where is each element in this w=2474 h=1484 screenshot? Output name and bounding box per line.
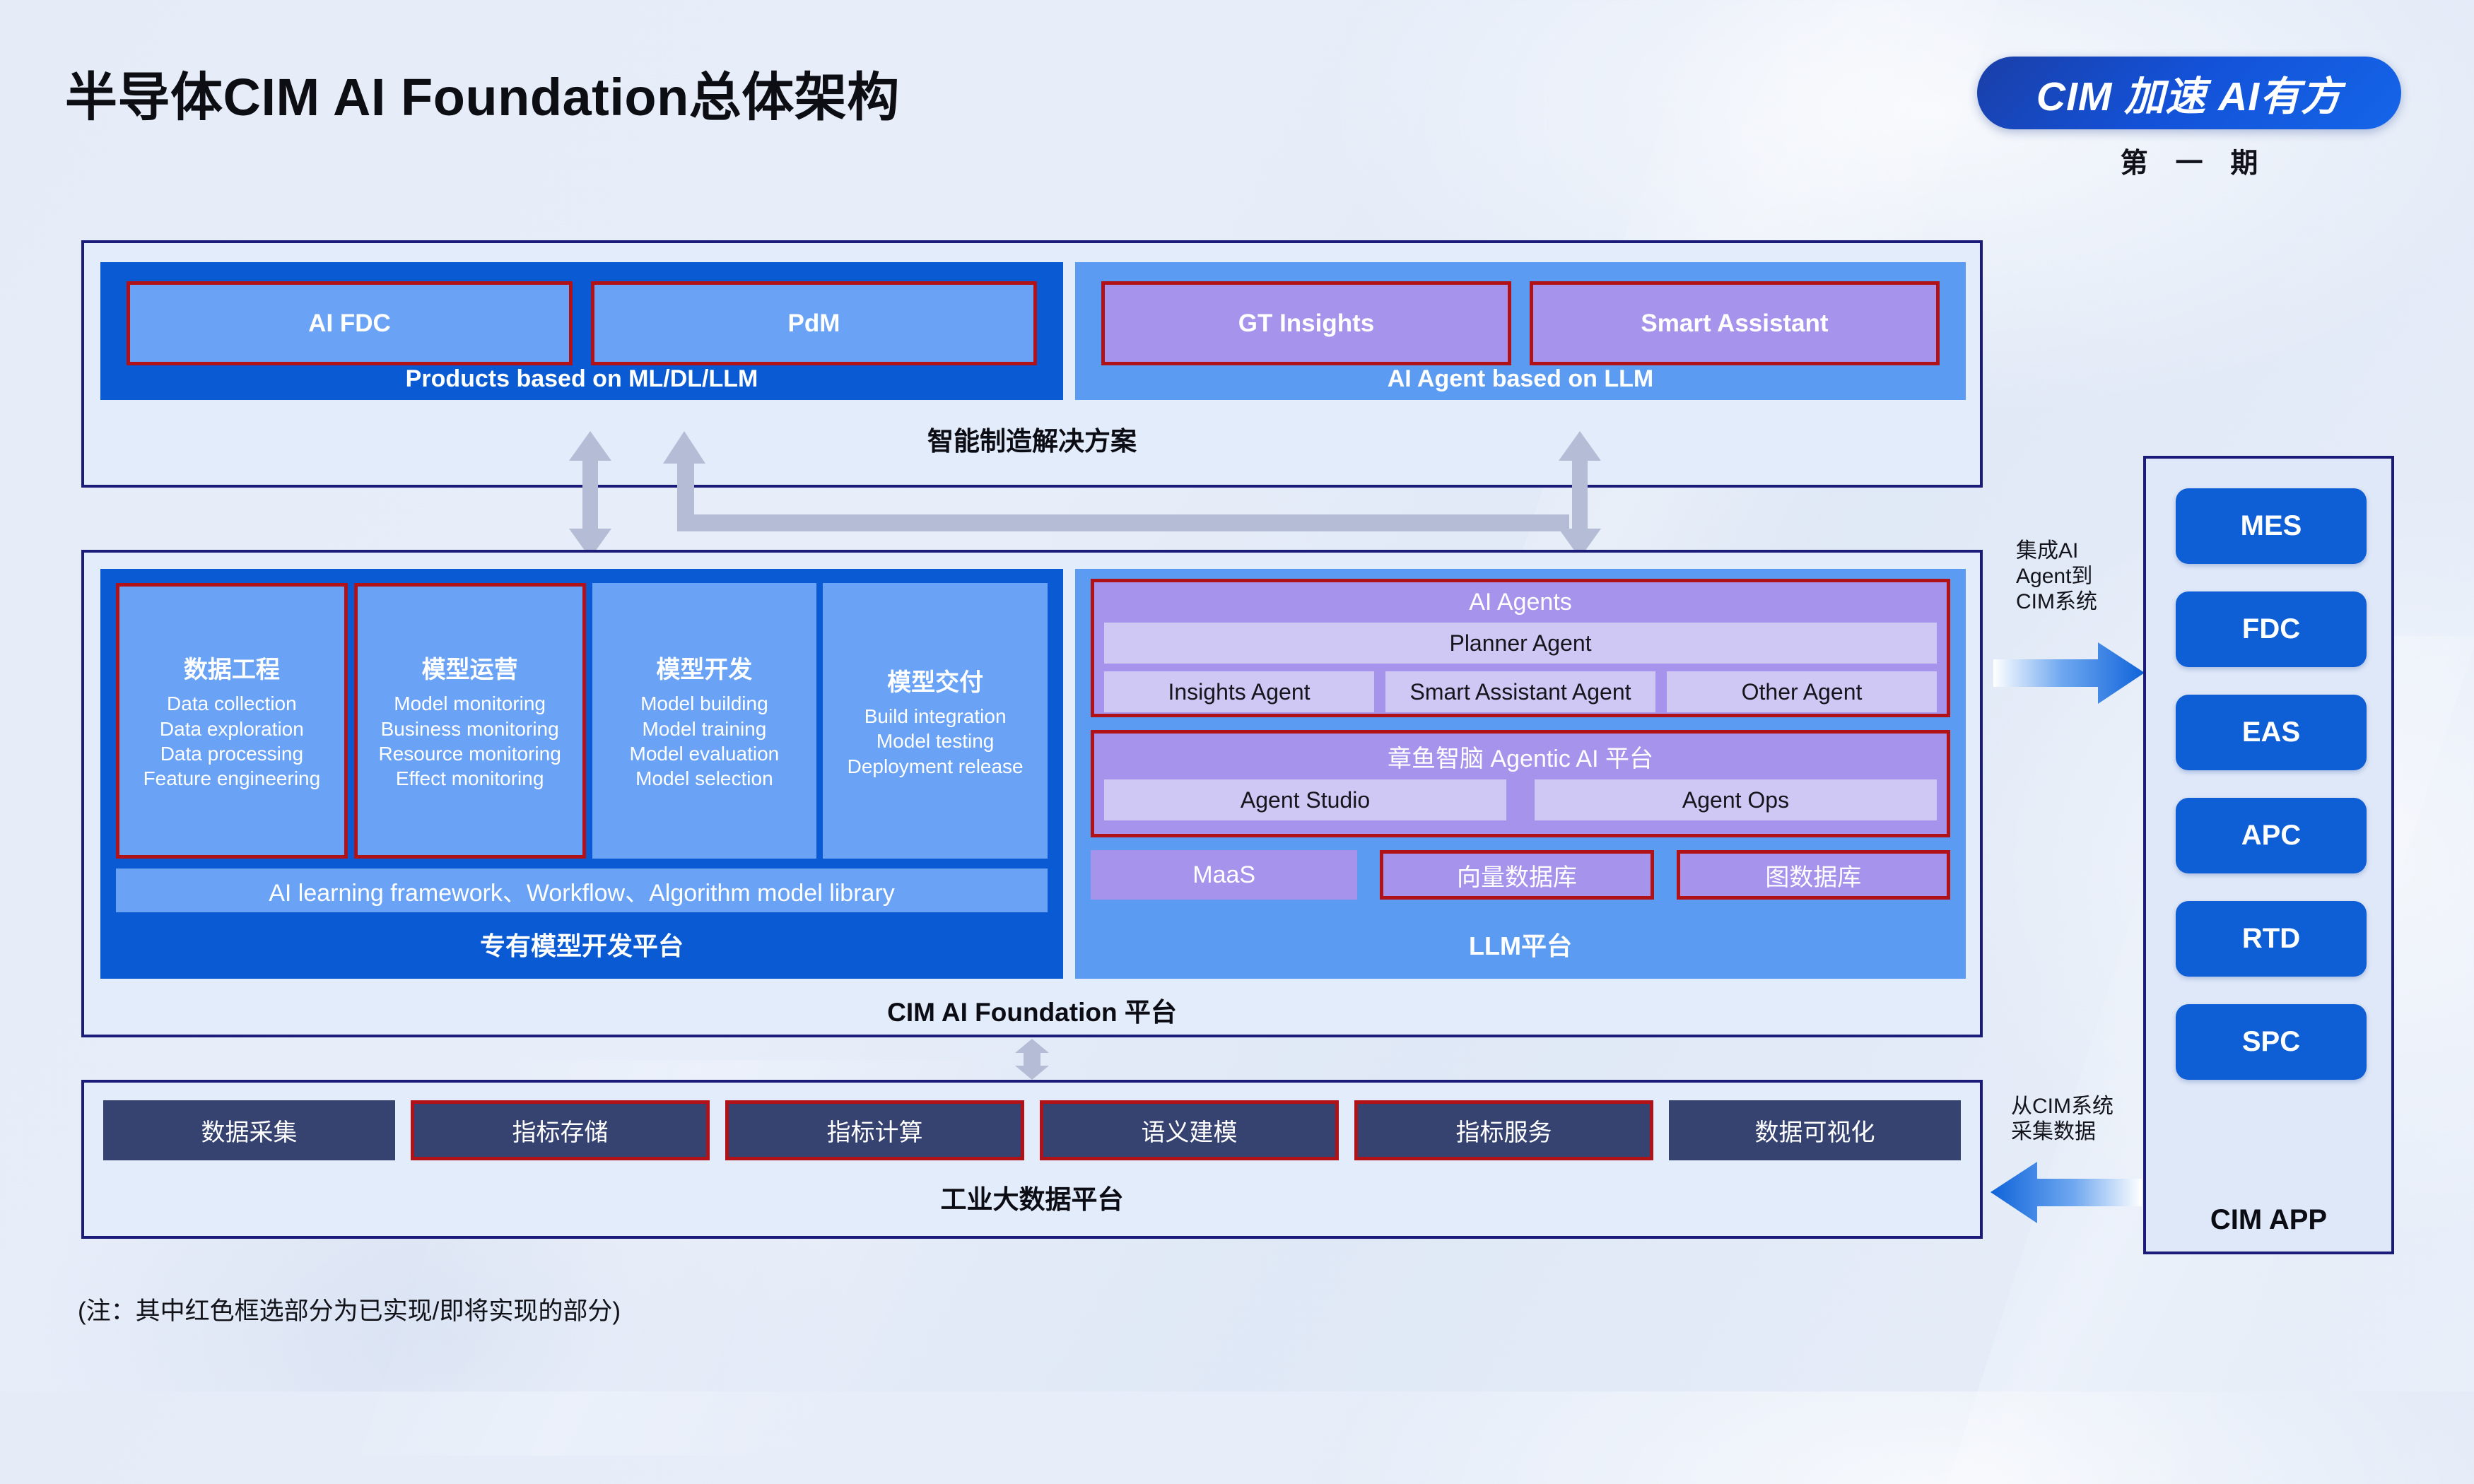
- pillar-item: Data processing: [160, 741, 303, 766]
- campaign-badge: CIM 加速 AI有方: [1977, 57, 2401, 129]
- cim-app-chip-apc[interactable]: APC: [2176, 798, 2367, 873]
- platform-layer: 数据工程 Data collection Data exploration Da…: [81, 550, 1983, 1037]
- agent-trio-row: Insights Agent Smart Assistant Agent Oth…: [1104, 671, 1937, 712]
- agentic-ai-platform-box[interactable]: 章鱼智脑 Agentic AI 平台 Agent Studio Agent Op…: [1091, 730, 1950, 837]
- ai-agent-group-label: AI Agent based on LLM: [1075, 365, 1966, 400]
- page-title: 半导体CIM AI Foundation总体架构: [65, 55, 900, 131]
- products-group-label: Products based on ML/DL/LLM: [100, 365, 1063, 400]
- pillar-title: 模型运营: [422, 650, 518, 685]
- pillar-item: Model testing: [877, 729, 995, 753]
- pillar-item: Model monitoring: [394, 691, 546, 716]
- product-chip-pdm[interactable]: PdM: [591, 281, 1037, 365]
- agentic-module-row: Agent Studio Agent Ops: [1104, 779, 1937, 820]
- llm-platform-label: LLM平台: [1075, 926, 1966, 962]
- pillar-item: Model selection: [635, 766, 773, 791]
- data-chip-metric-storage[interactable]: 指标存储: [411, 1100, 710, 1160]
- integrate-arrow-right-icon: [1993, 640, 2145, 707]
- pillar-item: Deployment release: [848, 754, 1024, 779]
- cim-app-panel: MES FDC EAS APC RTD SPC CIM APP: [2143, 456, 2394, 1254]
- planner-agent-chip[interactable]: Planner Agent: [1104, 623, 1937, 664]
- cim-app-chip-spc[interactable]: SPC: [2176, 1004, 2367, 1080]
- collect-note: 从CIM系统 采集数据: [2011, 1094, 2114, 1145]
- pillar-item: Resource monitoring: [378, 741, 561, 766]
- ai-agents-box[interactable]: AI Agents Planner Agent Insights Agent S…: [1091, 579, 1950, 717]
- campaign-issue-label: 第 一 期: [1977, 141, 2401, 181]
- pillar-item: Effect monitoring: [396, 766, 544, 791]
- pillar-item: Model evaluation: [630, 741, 780, 766]
- pillar-data-engineering[interactable]: 数据工程 Data collection Data exploration Da…: [116, 583, 348, 859]
- ai-agents-title: AI Agents: [1104, 582, 1937, 623]
- maas-chip-graph-db[interactable]: 图数据库: [1677, 850, 1950, 900]
- cim-app-caption: CIM APP: [2146, 1204, 2391, 1236]
- llm-platform: AI Agents Planner Agent Insights Agent S…: [1075, 569, 1966, 979]
- data-chip-row: 数据采集 指标存储 指标计算 语义建模 指标服务 数据可视化: [103, 1100, 1961, 1160]
- agentic-ai-title: 章鱼智脑 Agentic AI 平台: [1104, 734, 1937, 779]
- module-chip-agent-ops[interactable]: Agent Ops: [1535, 779, 1937, 820]
- pillar-model-development[interactable]: 模型开发 Model building Model training Model…: [592, 583, 817, 859]
- pillar-title: 数据工程: [184, 650, 280, 685]
- integrate-note-line3: CIM系统: [2016, 589, 2097, 615]
- pillar-item: Feature engineering: [143, 766, 321, 791]
- pillar-model-operations[interactable]: 模型运营 Model monitoring Business monitorin…: [354, 583, 586, 859]
- agent-chip-smart-assistant-agent[interactable]: Smart Assistant Agent: [1385, 671, 1655, 712]
- private-platform-label: 专有模型开发平台: [100, 926, 1063, 962]
- cim-app-chip-mes[interactable]: MES: [2176, 488, 2367, 564]
- pillar-title: 模型开发: [656, 650, 752, 685]
- collect-note-line1: 从CIM系统: [2011, 1094, 2114, 1119]
- agent-chip-row: GT Insights Smart Assistant: [1075, 262, 1966, 365]
- maas-chip-maas[interactable]: MaaS: [1091, 850, 1357, 900]
- integrate-note-line2: Agent到: [2016, 564, 2097, 589]
- cim-app-list: MES FDC EAS APC RTD SPC: [2176, 488, 2367, 1080]
- data-layer: 数据采集 指标存储 指标计算 语义建模 指标服务 数据可视化 工业大数据平台: [81, 1080, 1983, 1239]
- pillar-item: Model building: [640, 691, 768, 716]
- ai-agent-group: GT Insights Smart Assistant AI Agent bas…: [1075, 262, 1966, 400]
- maas-row: MaaS 向量数据库 图数据库: [1091, 850, 1950, 900]
- data-chip-data-collection[interactable]: 数据采集: [103, 1100, 395, 1160]
- data-chip-metric-computation[interactable]: 指标计算: [725, 1100, 1024, 1160]
- agent-chip-gt-insights[interactable]: GT Insights: [1101, 281, 1511, 365]
- footnote: (注：其中红色框选部分为已实现/即将实现的部分): [78, 1291, 621, 1327]
- campaign-badge-label: CIM 加速 AI有方: [2036, 64, 2342, 122]
- data-layer-caption: 工业大数据平台: [84, 1178, 1980, 1216]
- pillar-title: 模型交付: [887, 663, 983, 697]
- data-chip-semantic-modeling[interactable]: 语义建模: [1040, 1100, 1339, 1160]
- data-chip-data-visualization[interactable]: 数据可视化: [1669, 1100, 1961, 1160]
- platform-data-connector: [1009, 1037, 1055, 1081]
- collect-arrow-left-icon: [1990, 1159, 2142, 1226]
- agent-chip-insights-agent[interactable]: Insights Agent: [1104, 671, 1374, 712]
- data-chip-metric-service[interactable]: 指标服务: [1354, 1100, 1653, 1160]
- integrate-note-line1: 集成AI: [2016, 538, 2097, 564]
- platform-layer-caption: CIM AI Foundation 平台: [84, 991, 1980, 1029]
- agent-chip-smart-assistant[interactable]: Smart Assistant: [1530, 281, 1940, 365]
- pillar-model-delivery[interactable]: 模型交付 Build integration Model testing Dep…: [823, 583, 1048, 859]
- integrate-note: 集成AI Agent到 CIM系统: [2016, 538, 2097, 615]
- solution-platform-connectors: [551, 424, 1612, 565]
- collect-note-line2: 采集数据: [2011, 1119, 2114, 1145]
- products-group: AI FDC PdM Products based on ML/DL/LLM: [100, 262, 1063, 400]
- cim-app-chip-eas[interactable]: EAS: [2176, 695, 2367, 770]
- pillar-item: Build integration: [864, 704, 1007, 729]
- pillar-item: Data collection: [167, 691, 297, 716]
- products-chip-row: AI FDC PdM: [100, 262, 1063, 365]
- pillar-item: Model training: [642, 717, 766, 741]
- pillar-item: Data exploration: [160, 717, 304, 741]
- module-chip-agent-studio[interactable]: Agent Studio: [1104, 779, 1506, 820]
- product-chip-ai-fdc[interactable]: AI FDC: [127, 281, 573, 365]
- maas-chip-vector-db[interactable]: 向量数据库: [1380, 850, 1653, 900]
- framework-bar: AI learning framework、Workflow、Algorithm…: [116, 868, 1048, 912]
- pillar-row: 数据工程 Data collection Data exploration Da…: [116, 583, 1048, 859]
- cim-app-chip-fdc[interactable]: FDC: [2176, 591, 2367, 667]
- agent-chip-other-agent[interactable]: Other Agent: [1667, 671, 1937, 712]
- cim-app-chip-rtd[interactable]: RTD: [2176, 901, 2367, 977]
- pillar-item: Business monitoring: [381, 717, 559, 741]
- private-model-platform: 数据工程 Data collection Data exploration Da…: [100, 569, 1063, 979]
